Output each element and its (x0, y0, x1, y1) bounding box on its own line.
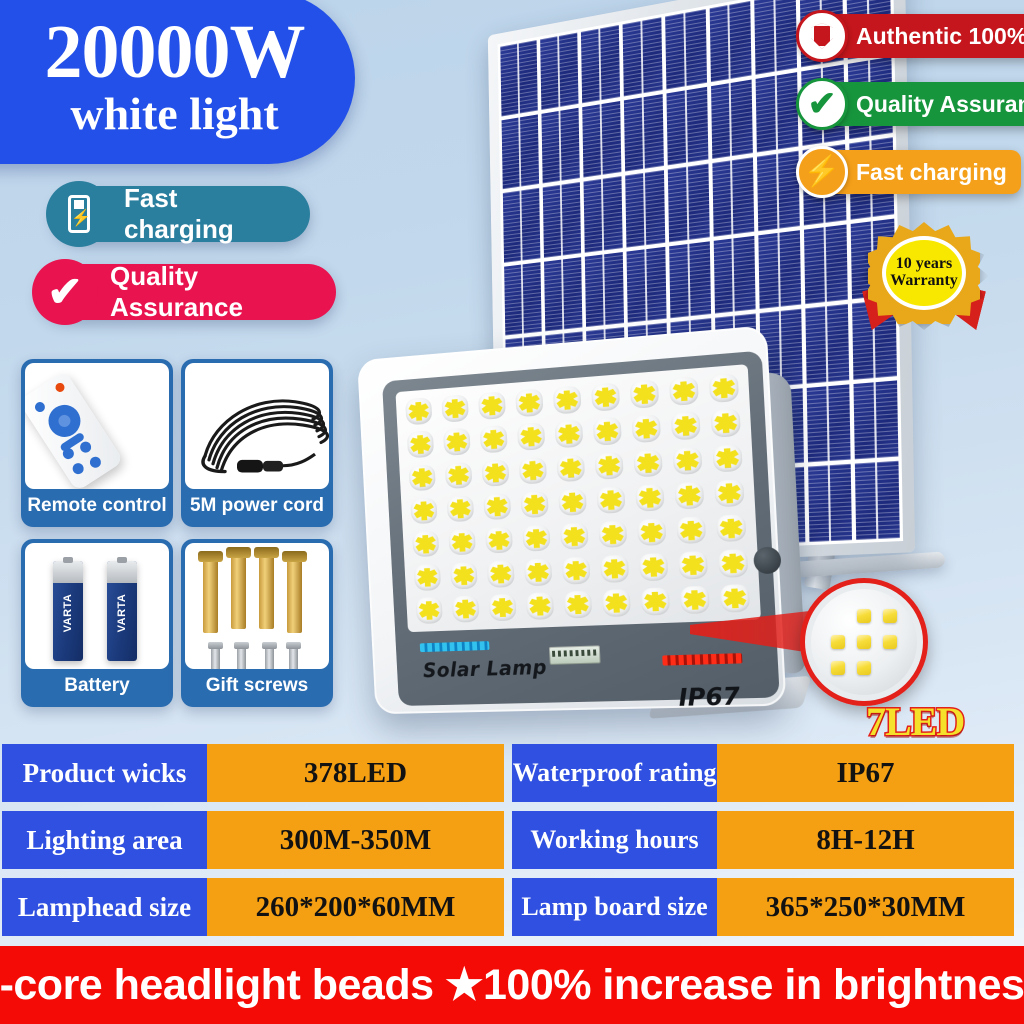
spec-value: 8H-12H (717, 811, 1014, 869)
spec-key: Lighting area (2, 811, 207, 869)
solar-cell (626, 170, 666, 247)
led-bead (515, 487, 553, 522)
led-bead (667, 443, 707, 479)
led-bead (475, 422, 513, 457)
badge-quality-assurance: ✔ Quality Assurance (808, 82, 1024, 126)
led-bead (590, 448, 629, 484)
spec-key: Product wicks (2, 744, 207, 802)
led-bead (625, 376, 665, 412)
solar-cell (581, 25, 620, 103)
headline-subtitle: white light (70, 90, 278, 138)
solar-cell (668, 164, 709, 242)
led-bead (664, 373, 704, 410)
led-bead (713, 545, 754, 581)
accessory-caption: Gift screws (185, 669, 329, 703)
solar-cell (544, 257, 582, 332)
remote-control-icon (25, 363, 169, 489)
feature-pill-fast-charging: Fast charging (52, 186, 310, 242)
callout-led-chip (857, 635, 871, 649)
seal-disc: 10 years Warranty (882, 236, 966, 310)
led-bead (440, 458, 477, 493)
solar-cell (853, 380, 898, 460)
led-bead (591, 482, 630, 517)
led-bead (548, 382, 587, 418)
led-bead (673, 547, 714, 583)
callout-led-chip (883, 609, 897, 623)
callout-led-chip (857, 661, 871, 675)
callout-led-empty (883, 661, 897, 675)
table-row: Working hours 8H-12H (512, 811, 1014, 869)
led-zoom-callout (800, 578, 928, 706)
solar-flood-lamp: Solar Lamp IP67 (344, 334, 814, 730)
table-row: Waterproof rating IP67 (512, 744, 1014, 802)
led-bead (411, 594, 448, 628)
solar-cell (584, 176, 623, 252)
solar-cell (623, 17, 663, 96)
shield-icon (796, 10, 848, 62)
led-bead (630, 480, 670, 516)
led-bead (555, 519, 594, 554)
led-bead (666, 408, 706, 444)
led-bead (484, 590, 522, 624)
lamp-brand-label: Solar Lamp (422, 655, 547, 682)
led-bead (443, 525, 480, 559)
feature-pill-quality-assurance: ✔ Quality Assurance (38, 264, 336, 320)
solar-cell (757, 151, 800, 231)
led-bead (400, 394, 437, 429)
badge-label: Authentic 100% (856, 23, 1024, 50)
solar-cell (855, 461, 900, 540)
led-bead (510, 385, 548, 421)
led-bead (593, 517, 632, 552)
callout-led-chip (883, 635, 897, 649)
led-bead (406, 494, 443, 528)
seal-line-1: 10 years (896, 256, 952, 273)
led-bead (703, 370, 744, 407)
led-bead (409, 560, 446, 594)
callout-led-chip (831, 635, 845, 649)
solar-cell (504, 262, 542, 336)
solar-cell (670, 241, 711, 318)
led-bead (442, 492, 479, 526)
spec-value: 260*200*60MM (207, 878, 504, 936)
led-bead (473, 388, 511, 423)
check-icon: ✔ (796, 78, 848, 130)
led-bead (514, 453, 552, 488)
screws-icon (185, 543, 329, 669)
headline-banner: 20000W white light (0, 0, 355, 164)
led-bead (407, 527, 444, 561)
feature-pill-label: Fast charging (124, 183, 288, 245)
badge-authentic: Authentic 100% (808, 14, 1024, 58)
led-bead (480, 523, 518, 557)
lamp-ip-rating-label: IP67 (678, 682, 741, 712)
led-bead (671, 512, 712, 548)
battery-bolt-icon (46, 181, 112, 247)
solar-cell (755, 72, 798, 153)
specification-table: Product wicks 378LED Lighting area 300M-… (0, 744, 1024, 942)
table-row: Lighting area 300M-350M (2, 811, 504, 869)
led-bead (482, 557, 520, 591)
led-bead (709, 475, 750, 511)
warranty-seal: 10 years Warranty (862, 222, 986, 340)
led-array (395, 364, 761, 632)
led-bead (634, 549, 674, 584)
spec-key: Waterproof rating (512, 744, 717, 802)
led-bead (588, 413, 627, 449)
led-bead (445, 558, 482, 592)
badge-label: Quality Assurance (856, 91, 1024, 118)
led-bead (711, 510, 752, 546)
spec-value: 365*250*30MM (717, 878, 1014, 936)
led-bead (517, 521, 555, 556)
led-bead (557, 553, 596, 588)
spec-value: 378LED (207, 744, 504, 802)
solar-cell (543, 182, 581, 257)
led-bead (705, 405, 746, 442)
solar-cell (713, 236, 755, 314)
accessory-caption: Battery (25, 669, 169, 703)
led-bead (632, 515, 672, 550)
callout-led-chip (857, 609, 871, 623)
feature-pill-label: Quality Assurance (110, 261, 314, 323)
led-bead (675, 582, 716, 617)
solar-cell (503, 188, 541, 263)
solar-cell (582, 101, 621, 178)
led-bead (404, 460, 441, 494)
led-bead (586, 379, 625, 415)
spec-value: 300M-350M (207, 811, 504, 869)
lamp-housing: Solar Lamp IP67 (357, 325, 786, 714)
led-bead (635, 584, 675, 619)
spec-value: IP67 (717, 744, 1014, 802)
lamp-display-icon (549, 645, 601, 664)
led-bead (707, 440, 748, 476)
accessory-caption: Remote control (25, 489, 169, 523)
blue-indicator-strip (420, 641, 490, 652)
lamp-faceplate: Solar Lamp IP67 (382, 351, 780, 706)
headline-power: 20000W (45, 18, 305, 88)
solar-cell (542, 107, 580, 183)
led-bead (512, 419, 550, 454)
accessory-card-power-cord: 5M power cord (181, 359, 333, 527)
solar-cell (500, 40, 538, 116)
battery-brand-label: VARTA (62, 577, 74, 649)
lightning-bolt-icon: ⚡ (796, 146, 848, 198)
led-bead (714, 580, 755, 616)
red-indicator-strip (662, 653, 742, 666)
accessory-caption: 5M power cord (185, 489, 329, 523)
led-count-label: 7LED (866, 698, 964, 745)
power-cord-icon (185, 363, 329, 489)
solar-cell (624, 94, 664, 172)
solar-cell (804, 224, 848, 304)
led-bead (550, 416, 589, 452)
led-bead (478, 489, 516, 524)
bottom-banner: 7-core headlight beads ★100% increase in… (0, 946, 1024, 1024)
solar-cell (627, 246, 667, 323)
badge-label: Fast charging (856, 159, 1007, 186)
led-bead (447, 592, 484, 626)
table-row: Lamp board size 365*250*30MM (512, 878, 1014, 936)
accessory-card-battery: VARTA VARTA Battery (21, 539, 173, 707)
solar-cell (502, 114, 540, 189)
led-bead (626, 411, 666, 447)
solar-cell (585, 252, 624, 328)
seal-line-2: Warranty (890, 273, 958, 290)
battery-brand-label: VARTA (116, 577, 128, 649)
led-bead (551, 450, 590, 485)
solar-cell (754, 0, 797, 74)
solar-cell (712, 157, 754, 236)
battery-icon: VARTA VARTA (25, 543, 169, 669)
led-bead (553, 485, 592, 520)
led-bead (436, 391, 473, 426)
product-advertisement: Solar Lamp IP67 7LED 20000W white light … (0, 0, 1024, 1024)
led-bead (597, 586, 636, 621)
badge-fast-charging: ⚡ Fast charging (808, 150, 1021, 194)
led-bead (595, 551, 634, 586)
bottom-banner-text: 7-core headlight beads ★100% increase in… (0, 960, 1024, 1010)
solar-cell (711, 79, 753, 159)
led-bead (477, 456, 515, 491)
led-bead (669, 478, 709, 514)
solar-cell (666, 9, 707, 89)
led-bead (402, 427, 439, 462)
solar-cell (758, 230, 801, 309)
led-bead (519, 555, 557, 590)
spec-key: Lamp board size (512, 878, 717, 936)
spec-key: Lamphead size (2, 878, 207, 936)
table-row: Lamphead size 260*200*60MM (2, 878, 504, 936)
led-bead (438, 425, 475, 460)
callout-led-chip (831, 661, 845, 675)
callout-led-empty (831, 609, 845, 623)
check-icon: ✔ (32, 259, 98, 325)
solar-cell (540, 33, 578, 110)
led-bead (521, 589, 559, 623)
solar-cell (709, 1, 751, 82)
table-row: Product wicks 378LED (2, 744, 504, 802)
spec-key: Working hours (512, 811, 717, 869)
led-bead (558, 587, 597, 622)
led-bead (628, 445, 668, 481)
solar-cell (667, 86, 708, 165)
accessory-card-screws: Gift screws (181, 539, 333, 707)
accessory-card-remote-control: Remote control (21, 359, 173, 527)
